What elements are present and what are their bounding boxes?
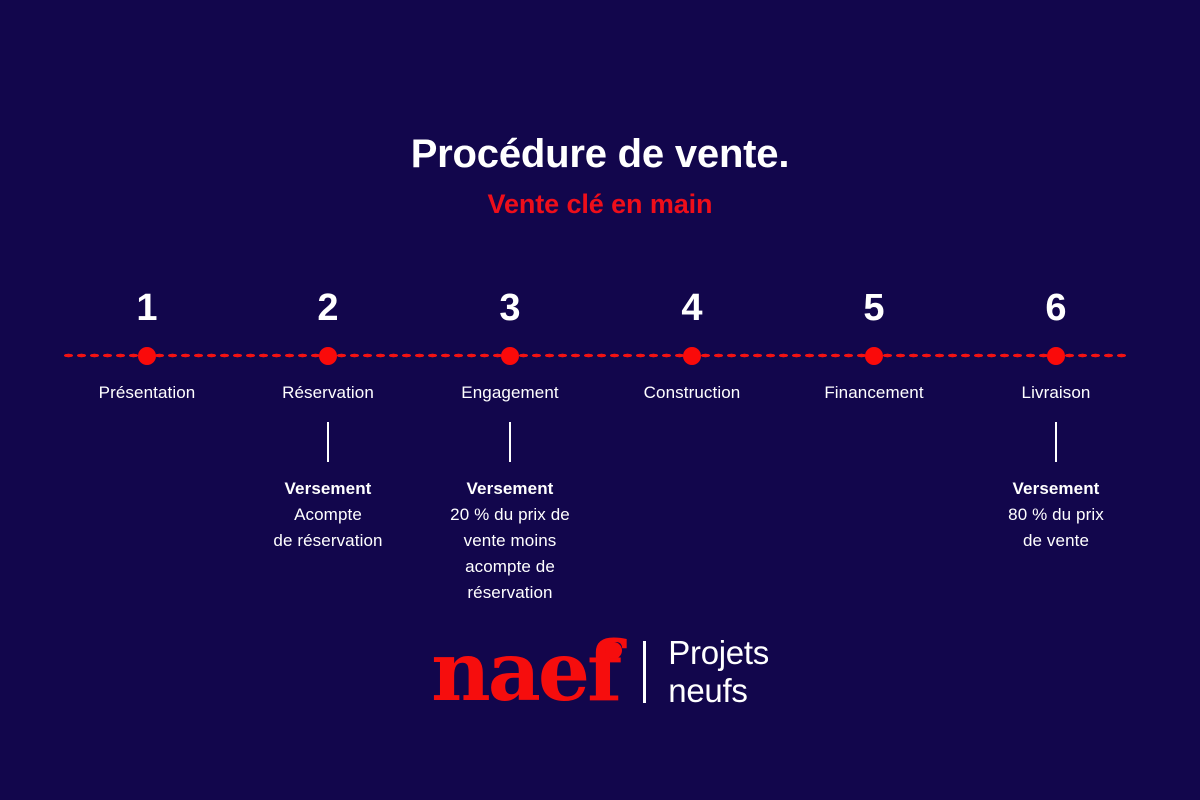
connector-line [509, 422, 511, 462]
payment-text: Versement 20 % du prix de vente moins ac… [410, 476, 610, 606]
step-marker-dot-icon [683, 347, 701, 365]
step-label: Construction [592, 383, 792, 403]
logo-divider [643, 641, 646, 703]
payment-heading: Versement [228, 476, 428, 502]
step-number: 4 [592, 289, 792, 327]
payment-text: Versement 80 % du prix de vente [956, 476, 1156, 554]
connector-line [1055, 422, 1057, 462]
naef-dot-icon [605, 642, 622, 659]
infographic-canvas: Procédure de vente. Vente clé en main 1 … [0, 0, 1200, 800]
naef-wordmark-text: naef [431, 624, 619, 720]
payment-heading: Versement [410, 476, 610, 502]
payment-detail: 20 % du prix de vente moins acompte de r… [410, 502, 610, 606]
connector-line [327, 422, 329, 462]
step-marker-dot-icon [138, 347, 156, 365]
logo-inner: naef Projets neufs [431, 624, 769, 720]
step-label: Livraison [956, 383, 1156, 403]
brand-logo: naef Projets neufs [0, 624, 1200, 720]
timeline-dotted-line [62, 353, 1128, 358]
step-marker-dot-icon [865, 347, 883, 365]
step-label: Financement [774, 383, 974, 403]
payment-detail: 80 % du prix de vente [956, 502, 1156, 554]
payment-detail: Acompte de réservation [228, 502, 428, 554]
step-marker-dot-icon [501, 347, 519, 365]
payment-heading: Versement [956, 476, 1156, 502]
step-marker-dot-icon [1047, 347, 1065, 365]
logo-tagline-line-1: Projets [668, 634, 769, 672]
step-marker-dot-icon [319, 347, 337, 365]
payment-text: Versement Acompte de réservation [228, 476, 428, 554]
step-number: 3 [410, 289, 610, 327]
step-number: 5 [774, 289, 974, 327]
step-number: 6 [956, 289, 1156, 327]
naef-wordmark: naef [431, 624, 623, 720]
step-label: Engagement [410, 383, 610, 403]
step-label: Réservation [228, 383, 428, 403]
step-number: 2 [228, 289, 428, 327]
logo-tagline: Projets neufs [668, 634, 769, 710]
step-number: 1 [47, 289, 247, 327]
logo-tagline-line-2: neufs [668, 672, 769, 710]
step-label: Présentation [47, 383, 247, 403]
